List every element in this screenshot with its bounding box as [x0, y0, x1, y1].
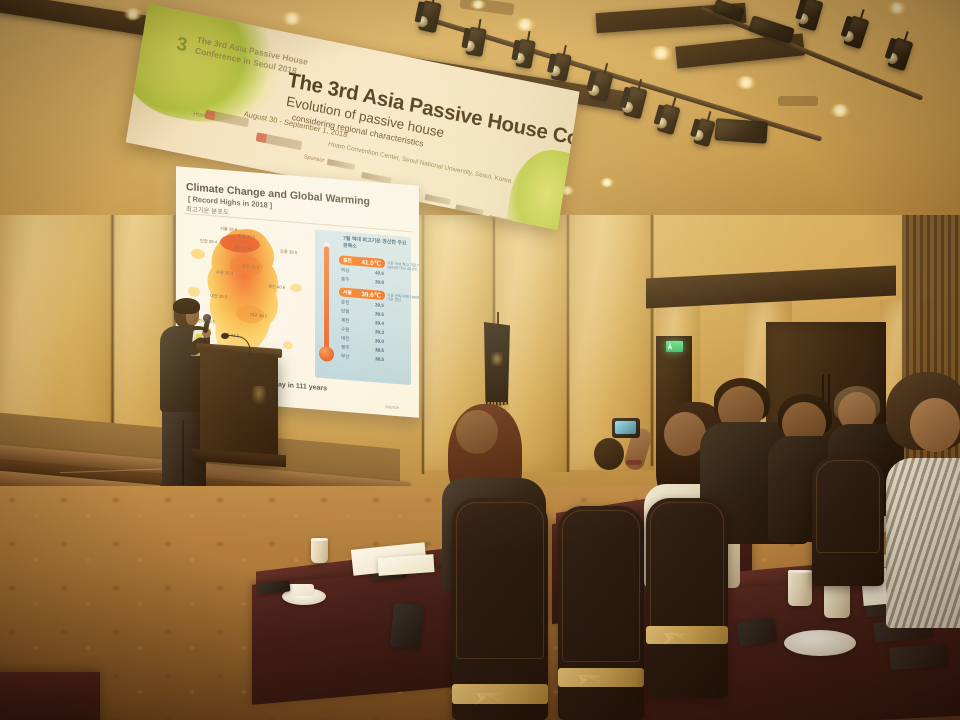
table-foreground-left	[0, 672, 100, 720]
attendee-7-head	[594, 438, 624, 470]
thermo-highlight-0-name: 홍천	[343, 257, 352, 265]
thermometer-heading: 7월 역대 최고기온 경신한 주요 관측소	[343, 236, 407, 254]
thermo-row-3-name: 양평	[341, 308, 361, 316]
map-label-3: 강릉 39.0	[280, 249, 297, 256]
downlight-6	[736, 76, 756, 89]
downlight-4	[515, 18, 535, 31]
thermo-row-1-name: 충주	[341, 276, 361, 284]
exit-sign	[666, 341, 683, 352]
cup-left-1	[311, 538, 328, 563]
thermometer-fill	[324, 246, 329, 350]
attendee-foreground-right	[886, 372, 960, 632]
map-label-1: 인천 39.4	[200, 238, 217, 245]
map-label-2: 춘천 39.5	[238, 233, 255, 240]
chair-4[interactable]	[812, 456, 884, 586]
downlight-3	[470, 0, 486, 9]
map-label-5: 청주 39.5	[242, 264, 259, 271]
thermo-row-8-value: 38.5	[362, 355, 384, 362]
podium-emblem	[252, 386, 266, 404]
cup-front-1	[788, 570, 812, 606]
map-label-8: 영천 40.6	[268, 284, 285, 291]
conference-photo-scene: 3 The 3rd Asia Passive House Conference …	[0, 0, 960, 720]
thermo-row-0-value: 40.6	[362, 269, 384, 276]
thermo-row-1-value: 39.8	[362, 278, 384, 285]
map-label-4: 수원 39.3	[216, 269, 233, 276]
thermo-highlight-0-note: 기존 국내 최고 기온기록 경신 1942년 대구 40.0℃	[387, 261, 419, 273]
slide-credit: source	[385, 404, 399, 410]
chair-3-frame	[650, 502, 724, 644]
thermo-row-4-value: 39.4	[362, 319, 384, 326]
flag-emblem	[491, 352, 503, 366]
bag-left	[390, 603, 424, 650]
banner-logo-mark: 3	[170, 32, 193, 60]
thermo-highlight-1: 서울 39.6℃	[339, 287, 385, 300]
thermo-highlight-0-value: 41.0℃	[361, 258, 381, 268]
running-man-icon	[668, 343, 672, 350]
attendee-6-head	[910, 398, 960, 452]
thermo-row-4-name: 제천	[341, 317, 361, 325]
attendee-6-shirt	[886, 458, 960, 628]
downlight-8	[888, 2, 906, 14]
map-label-7: 홍천 41.0	[234, 245, 251, 252]
chair-1-sash	[452, 684, 548, 704]
thermo-highlight-1-name: 서울	[343, 289, 352, 297]
map-label-0: 서울 39.6	[220, 226, 237, 233]
chair-1-frame	[456, 502, 544, 659]
thermo-row-5-value: 39.3	[362, 328, 384, 335]
chair-4-frame	[816, 460, 880, 553]
phone-front-3[interactable]	[889, 644, 948, 670]
chair-3[interactable]	[646, 498, 728, 698]
downlight-5	[650, 46, 672, 60]
thermo-row-3-value: 39.5	[362, 310, 384, 317]
thermometer-bulb	[319, 346, 334, 362]
thermo-row-7-name: 광주	[341, 344, 361, 352]
ceiling-projector	[715, 118, 768, 144]
ceiling-vent-1	[459, 0, 514, 16]
thermo-row-2-name: 춘천	[341, 299, 361, 307]
thermo-row-5-name: 수원	[341, 326, 361, 334]
chair-2-frame	[562, 510, 640, 662]
attendee-1-head	[456, 410, 498, 454]
thermo-row-8-name: 부산	[341, 353, 361, 361]
map-label-9: 대구 38.5	[250, 312, 267, 319]
attendee-behind-1	[592, 438, 630, 488]
thermo-highlight-1-note: 기상 관측 이래 108년만 최고 기온 경신	[387, 293, 419, 305]
downlight-1	[124, 8, 142, 20]
downlight-2	[282, 12, 302, 25]
phone-screen-icon	[615, 421, 636, 434]
thermometer-infographic: 7월 역대 최고기온 경신한 주요 관측소 홍천 41.0℃ 기존 국내 최고 …	[315, 229, 411, 385]
speaker-hair	[173, 298, 200, 314]
thermo-highlight-0: 홍천 41.0℃	[339, 255, 385, 268]
podium	[200, 349, 278, 462]
downlight-14	[600, 178, 614, 187]
thermo-row-6-value: 39.0	[362, 337, 384, 344]
podium-mic-head-icon	[221, 333, 229, 339]
thermo-highlight-1-value: 39.6℃	[361, 290, 381, 300]
thermo-row-0-name: 의성	[341, 267, 361, 275]
speaker-leg-split	[182, 420, 184, 486]
ceiling-vent-2	[778, 96, 818, 106]
downlight-7	[830, 104, 850, 117]
thermo-row-2-value: 39.5	[362, 301, 384, 308]
chair-2[interactable]	[558, 506, 644, 720]
napkin-left-1	[288, 584, 314, 596]
thermo-row-6-name: 대전	[341, 335, 361, 343]
thermo-row-7-value: 38.5	[362, 346, 384, 353]
microphone-head-icon	[203, 314, 211, 322]
plate-front-1	[784, 630, 856, 656]
